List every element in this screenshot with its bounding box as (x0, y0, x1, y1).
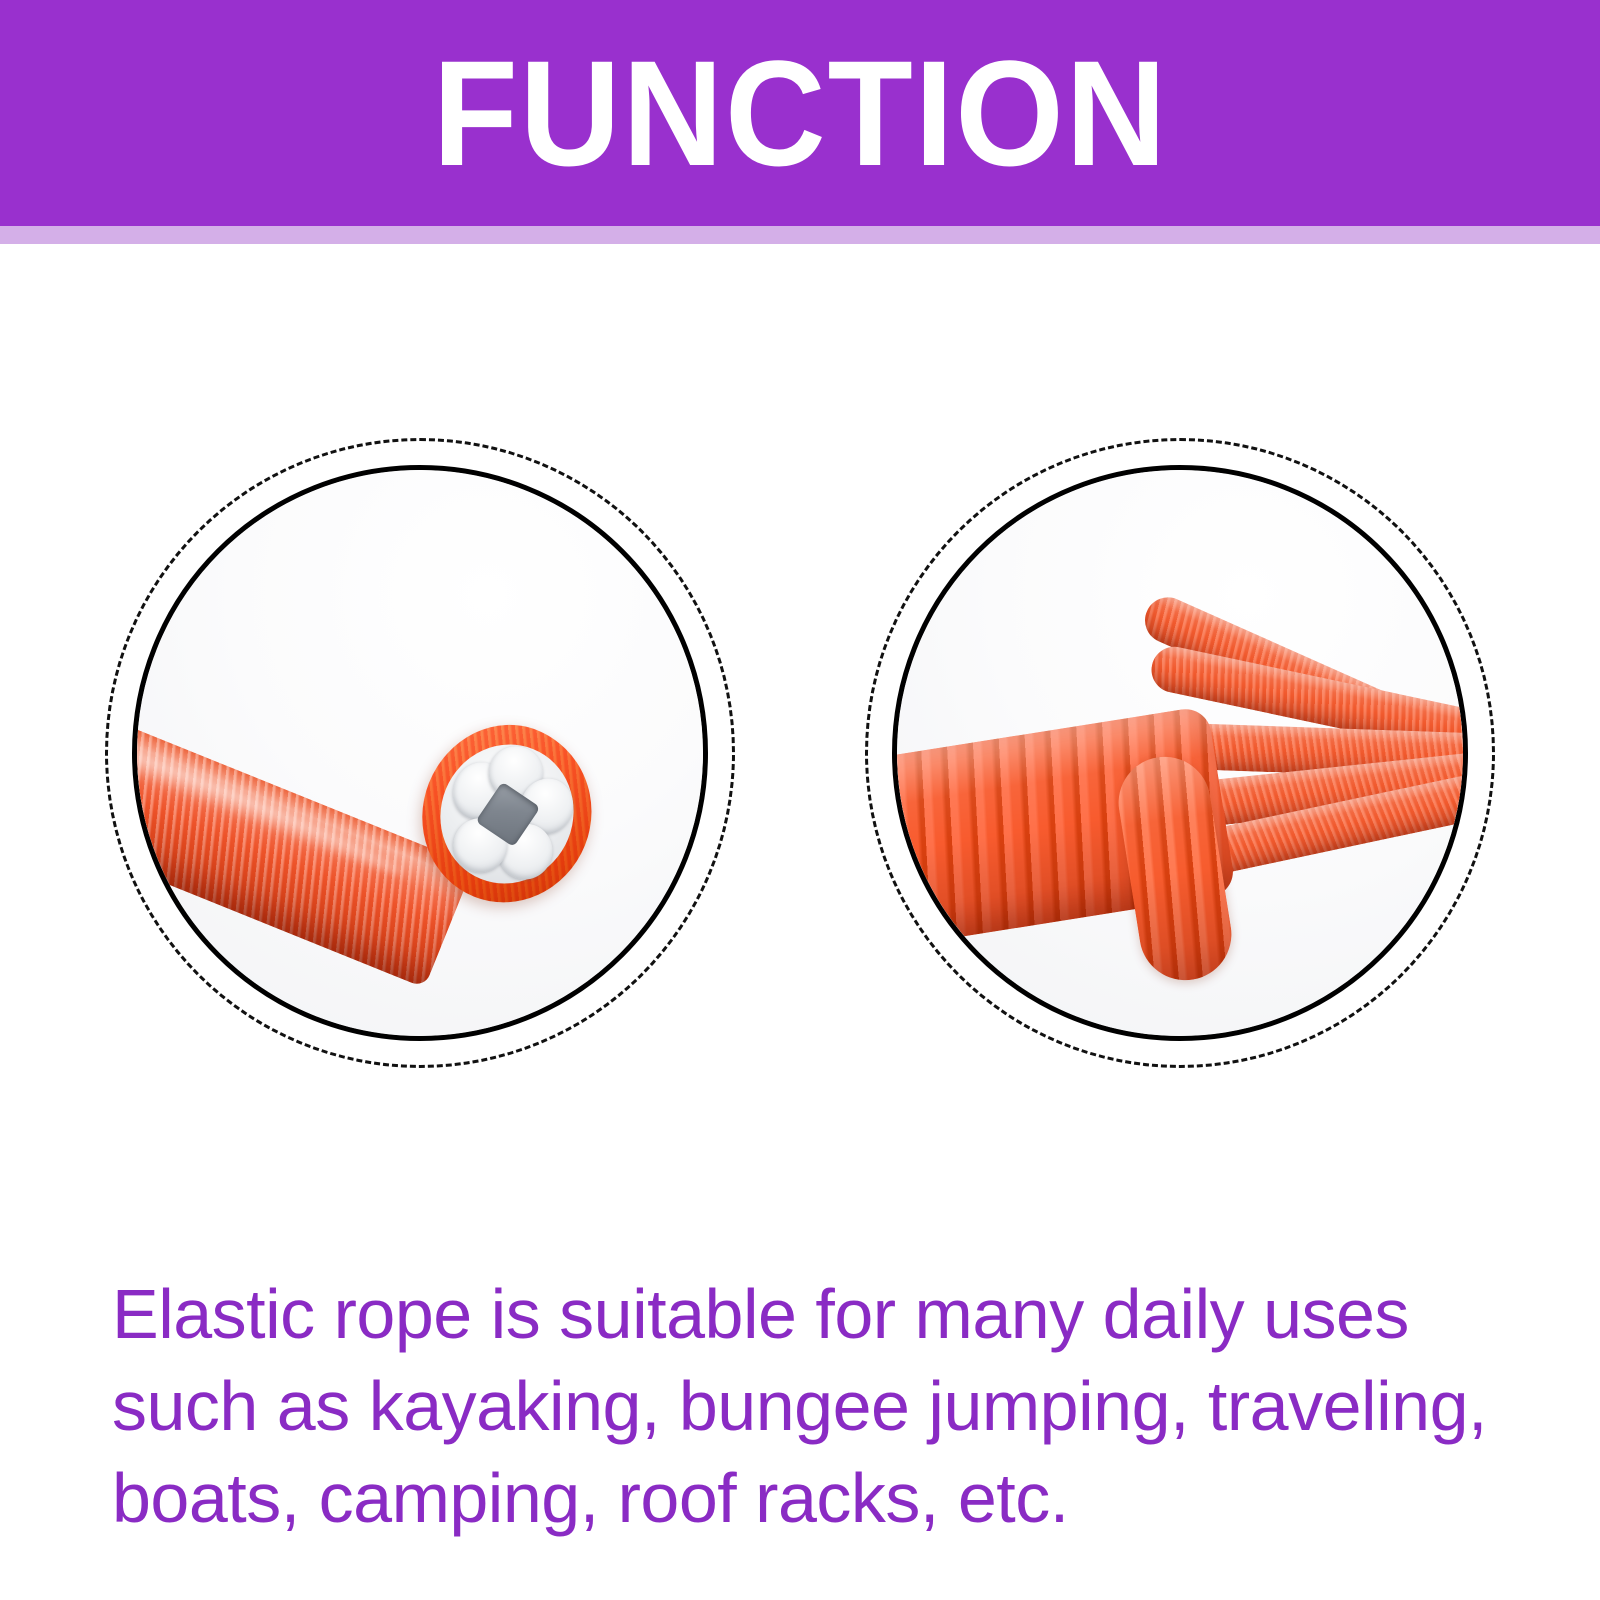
coiled-bungee-photo (892, 465, 1468, 1041)
product-infographic-page: FUNCTION (0, 0, 1600, 1600)
photo-inner-right (897, 470, 1463, 1036)
caption-text: Elastic rope is suitable for many daily … (112, 1268, 1512, 1544)
header-band: FUNCTION (0, 0, 1600, 226)
rope-cross-section-photo (132, 465, 708, 1041)
photo-inner-left (137, 470, 703, 1036)
left-photo-callout (105, 438, 735, 1068)
photo-stage (0, 244, 1600, 1264)
page-title: FUNCTION (432, 38, 1168, 188)
right-photo-callout (865, 438, 1495, 1068)
header-accent-strip (0, 226, 1600, 244)
